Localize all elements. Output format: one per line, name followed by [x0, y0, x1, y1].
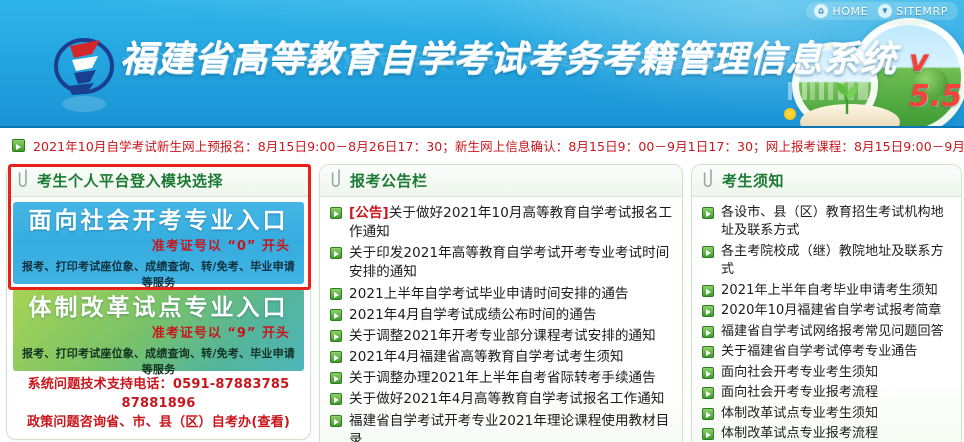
site-title-wrap: 福建省高等教育自学考试考务考籍管理信息系统 v 5.5 [120, 30, 964, 114]
notice-item-text: 体制改革试点专业考生须知 [721, 405, 878, 423]
login-module-panel: 考生个人平台登入模块选择 面向社会开考专业入口 准考证号以 “0” 开头 报考、… [6, 164, 311, 440]
arrow-right-icon [702, 305, 714, 317]
announcement-text: 福建省自学考试开考专业2021年理论课程使用教材目录 [349, 412, 674, 442]
notice-marquee[interactable]: 2021年10月自学考试新生网上预报名：8月15日9:00－8月26日17：30… [0, 128, 964, 164]
notice-item-text: 关于福建省自学考试停考专业通告 [721, 343, 918, 361]
list-item[interactable]: 各主考院校成（继）教院地址及联系方式 [702, 243, 953, 280]
notice-item-text: 各设市、县（区）教育招生考试机构地址及联系方式 [721, 204, 953, 241]
notice-item-text: 面向社会开考专业报考流程 [721, 384, 878, 402]
list-item[interactable]: 关于福建省自学考试停考专业通告 [702, 343, 953, 361]
arrow-right-icon [330, 330, 342, 342]
arrow-right-icon [702, 326, 714, 338]
arrow-right-icon [330, 247, 342, 259]
announcement-panel-title: 报考公告栏 [350, 170, 428, 191]
announcement-text: 2021上半年自学考试毕业申请时间安排的通告 [349, 285, 629, 304]
arrow-right-icon [702, 428, 714, 440]
entry-reform-pilot-desc: 报考、打印考试座位象、成绩查询、转/免考、毕业申请等服务 [21, 345, 296, 377]
paperclip-icon [328, 167, 344, 191]
list-item[interactable]: 2021年上半年自考毕业申请考生须知 [702, 282, 953, 300]
login-module-panel-header: 考生个人平台登入模块选择 [7, 165, 310, 197]
notice-item-text: 各主考院校成（继）教院地址及联系方式 [721, 243, 953, 280]
announcement-text: 2021年4月自学考试成绩公布时间的通告 [349, 306, 596, 325]
arrow-right-icon [702, 285, 714, 297]
list-item[interactable]: 2020年10月福建省自学考试报考简章 [702, 302, 953, 320]
announcement-text: 关于做好2021年4月高等教育自学考试报名工作通知 [349, 390, 664, 409]
list-item[interactable]: [公告]关于做好2021年10月高等教育自学考试报名工作通知 [330, 204, 674, 242]
arrow-right-icon [702, 367, 714, 379]
arrow-right-icon [330, 309, 342, 321]
nav-home-link[interactable]: ⌂ HOME [814, 4, 868, 18]
announcement-panel: 报考公告栏 [公告]关于做好2021年10月高等教育自学考试报名工作通知 关于印… [319, 164, 683, 442]
list-item[interactable]: 2021年4月自学考试成绩公布时间的通告 [330, 306, 674, 325]
notice-text: 2021年10月自学考试新生网上预报名：8月15日9:00－8月26日17：30… [33, 136, 964, 155]
list-item[interactable]: 关于做好2021年4月高等教育自学考试报名工作通知 [330, 390, 674, 409]
list-item[interactable]: 面向社会开考专业考生须知 [702, 364, 953, 382]
chevron-down-icon: ▾ [878, 4, 892, 18]
main-content: 考生个人平台登入模块选择 面向社会开考专业入口 准考证号以 “0” 开头 报考、… [0, 164, 964, 440]
notice-item-text: 2021年上半年自考毕业申请考生须知 [721, 282, 938, 300]
entry-reform-pilot-sub: 准考证号以 “9” 开头 [21, 322, 296, 341]
announcement-list: [公告]关于做好2021年10月高等教育自学考试报名工作通知 关于印发2021年… [320, 197, 682, 442]
list-item[interactable]: 体制改革试点专业报考流程 [702, 425, 953, 442]
arrow-right-icon [330, 393, 342, 405]
left-column: 考生个人平台登入模块选择 面向社会开考专业入口 准考证号以 “0” 开头 报考、… [6, 164, 311, 440]
site-header: ⌂ HOME ▾ SITEMRP 福建省高等教育自学考试考务考籍管理信息系统 v… [0, 0, 964, 128]
list-item[interactable]: 各设市、县（区）教育招生考试机构地址及联系方式 [702, 204, 953, 241]
arrow-right-icon [330, 207, 342, 219]
entry-social-major-desc: 报考、打印考试座位象、成绩查询、转/免考、毕业申请等服务 [21, 258, 296, 290]
notice-item-text: 2020年10月福建省自学考试报考简章 [721, 302, 942, 320]
list-item[interactable]: 体制改革试点专业考生须知 [702, 405, 953, 423]
candidate-notice-panel: 考生须知 各设市、县（区）教育招生考试机构地址及联系方式 各主考院校成（继）教院… [691, 164, 962, 442]
entry-social-major-title: 面向社会开考专业入口 [21, 208, 296, 234]
arrow-right-icon [702, 408, 714, 420]
announcement-tag: [公告] [349, 205, 389, 221]
arrow-right-icon [12, 139, 25, 152]
notice-item-text: 面向社会开考专业考生须知 [721, 364, 878, 382]
announcement-text: 关于印发2021年高等教育自学考试开考专业考试时间安排的通知 [349, 244, 674, 282]
arrow-right-icon [330, 372, 342, 384]
arrow-right-icon [702, 346, 714, 358]
announcement-text: 关于做好2021年10月高等教育自学考试报名工作通知 [349, 205, 672, 240]
site-version: v 5.5 [909, 44, 964, 114]
right-column: 考生须知 各设市、县（区）教育招生考试机构地址及联系方式 各主考院校成（继）教院… [691, 164, 962, 442]
nav-sitemap-link[interactable]: ▾ SITEMRP [878, 4, 948, 18]
paperclip-icon [700, 167, 716, 191]
candidate-notice-panel-header: 考生须知 [692, 165, 961, 197]
candidate-notice-panel-title: 考生须知 [722, 170, 784, 191]
list-item[interactable]: 2021年4月福建省高等教育自学考试考生须知 [330, 348, 674, 367]
support-info: 系统问题技术支持电话：0591-87883785 87881896 政策问题咨询… [7, 371, 310, 439]
header-top-nav[interactable]: ⌂ HOME ▾ SITEMRP [806, 2, 958, 20]
list-item[interactable]: 关于调整办理2021年上半年自考省际转考手续通告 [330, 369, 674, 388]
nav-home-label: HOME [832, 5, 868, 18]
entry-social-major-sub: 准考证号以 “0” 开头 [21, 235, 296, 254]
candidate-notice-list: 各设市、县（区）教育招生考试机构地址及联系方式 各主考院校成（继）教院地址及联系… [692, 197, 961, 442]
list-item[interactable]: 福建省自学考试网络报考常见问题回答 [702, 323, 953, 341]
arrow-right-icon [330, 288, 342, 300]
support-phone-line: 系统问题技术支持电话：0591-87883785 87881896 [11, 376, 306, 414]
login-module-panel-title: 考生个人平台登入模块选择 [37, 170, 223, 191]
arrow-right-icon [702, 387, 714, 399]
entry-reform-pilot-major[interactable]: 体制改革试点专业入口 准考证号以 “9” 开头 报考、打印考试座位象、成绩查询、… [13, 289, 304, 371]
entry-social-major[interactable]: 面向社会开考专业入口 准考证号以 “0” 开头 报考、打印考试座位象、成绩查询、… [13, 202, 304, 284]
nav-sitemap-label: SITEMRP [896, 5, 948, 18]
arrow-right-icon [330, 415, 342, 427]
announcement-panel-header: 报考公告栏 [320, 165, 682, 197]
notice-item-text: 福建省自学考试网络报考常见问题回答 [721, 323, 944, 341]
announcement-text: 关于调整2021年开考专业部分课程考试安排的通知 [349, 327, 656, 346]
entry-reform-pilot-title: 体制改革试点专业入口 [21, 295, 296, 321]
announcement-text: 2021年4月福建省高等教育自学考试考生须知 [349, 348, 624, 367]
announcement-text: 关于调整办理2021年上半年自考省际转考手续通告 [349, 369, 656, 388]
site-logo [48, 26, 120, 112]
list-item[interactable]: 面向社会开考专业报考流程 [702, 384, 953, 402]
site-title: 福建省高等教育自学考试考务考籍管理信息系统 [120, 30, 897, 82]
logo-icon [48, 26, 120, 112]
arrow-right-icon [330, 351, 342, 363]
list-item[interactable]: 关于印发2021年高等教育自学考试开考专业考试时间安排的通知 [330, 244, 674, 282]
notice-item-text: 体制改革试点专业报考流程 [721, 425, 878, 442]
paperclip-icon [15, 167, 31, 191]
list-item[interactable]: 2021上半年自学考试毕业申请时间安排的通告 [330, 285, 674, 304]
list-item[interactable]: 关于调整2021年开考专业部分课程考试安排的通知 [330, 327, 674, 346]
support-policy-line[interactable]: 政策问题咨询省、市、县（区）自考办(查看) [11, 414, 306, 433]
arrow-right-icon [702, 246, 714, 258]
arrow-right-icon [702, 207, 714, 219]
home-icon: ⌂ [814, 4, 828, 18]
list-item[interactable]: 福建省自学考试开考专业2021年理论课程使用教材目录 [330, 412, 674, 442]
mid-column: 报考公告栏 [公告]关于做好2021年10月高等教育自学考试报名工作通知 关于印… [319, 164, 683, 442]
